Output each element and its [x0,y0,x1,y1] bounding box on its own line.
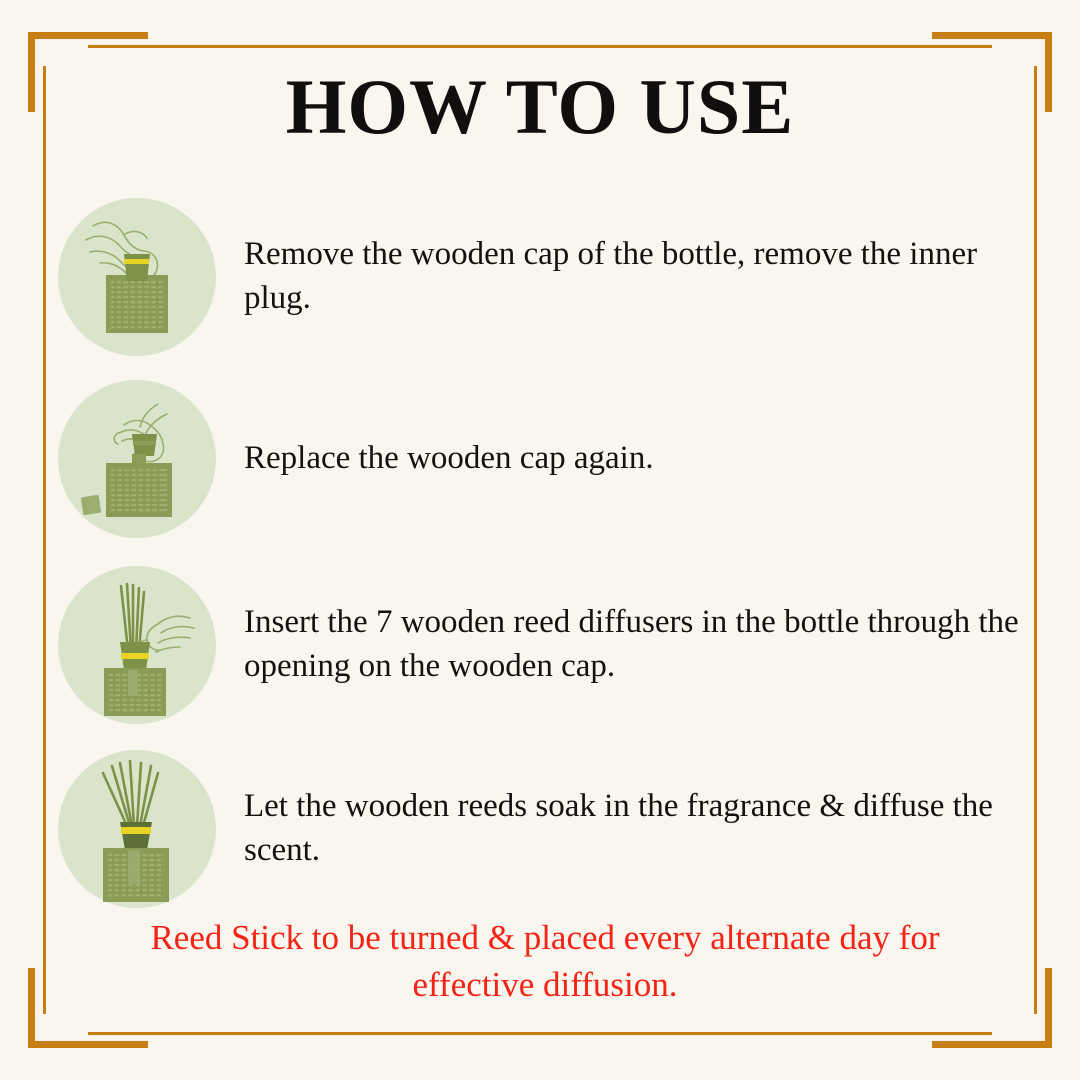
frame-inner-rail-left [43,66,46,1014]
frame-bracket-segment [932,32,1052,39]
list-item-label: Replace the wooden cap again. [244,437,654,481]
frame-bracket-segment [28,32,148,39]
frame-bracket-segment [28,1041,148,1048]
frame-inner-rail-bottom [88,1032,992,1035]
page-title: HOW TO USE [0,68,1080,146]
frame-inner-rail-top [88,45,992,48]
list-item-label: Insert the 7 wooden reed diffusers in th… [244,601,1024,688]
list-item: Replace the wooden cap again. [58,368,1024,550]
list-item-label: Let the wooden reeds soak in the fragran… [244,785,1024,872]
frame-bracket-segment [28,968,35,1048]
steps-list: Remove the wooden cap of the bottle, rem… [58,186,1024,918]
reed-care-note: Reed Stick to be turned & placed every a… [120,914,970,1009]
hand-removing-cap-icon [58,198,216,356]
frame-bracket-segment [932,1041,1052,1048]
reed-diffuser-bottle-icon [58,750,216,908]
list-item: Insert the 7 wooden reed diffusers in th… [58,550,1024,740]
frame-bracket-segment [1045,968,1052,1048]
list-item: Remove the wooden cap of the bottle, rem… [58,186,1024,368]
hand-holding-cap-with-plug-icon [58,380,216,538]
frame-inner-rail-right [1034,66,1037,1014]
list-item-label: Remove the wooden cap of the bottle, rem… [244,233,1024,320]
list-item: Let the wooden reeds soak in the fragran… [58,740,1024,918]
hand-inserting-reeds-icon [58,566,216,724]
how-to-use-card: HOW TO USE [0,0,1080,1080]
